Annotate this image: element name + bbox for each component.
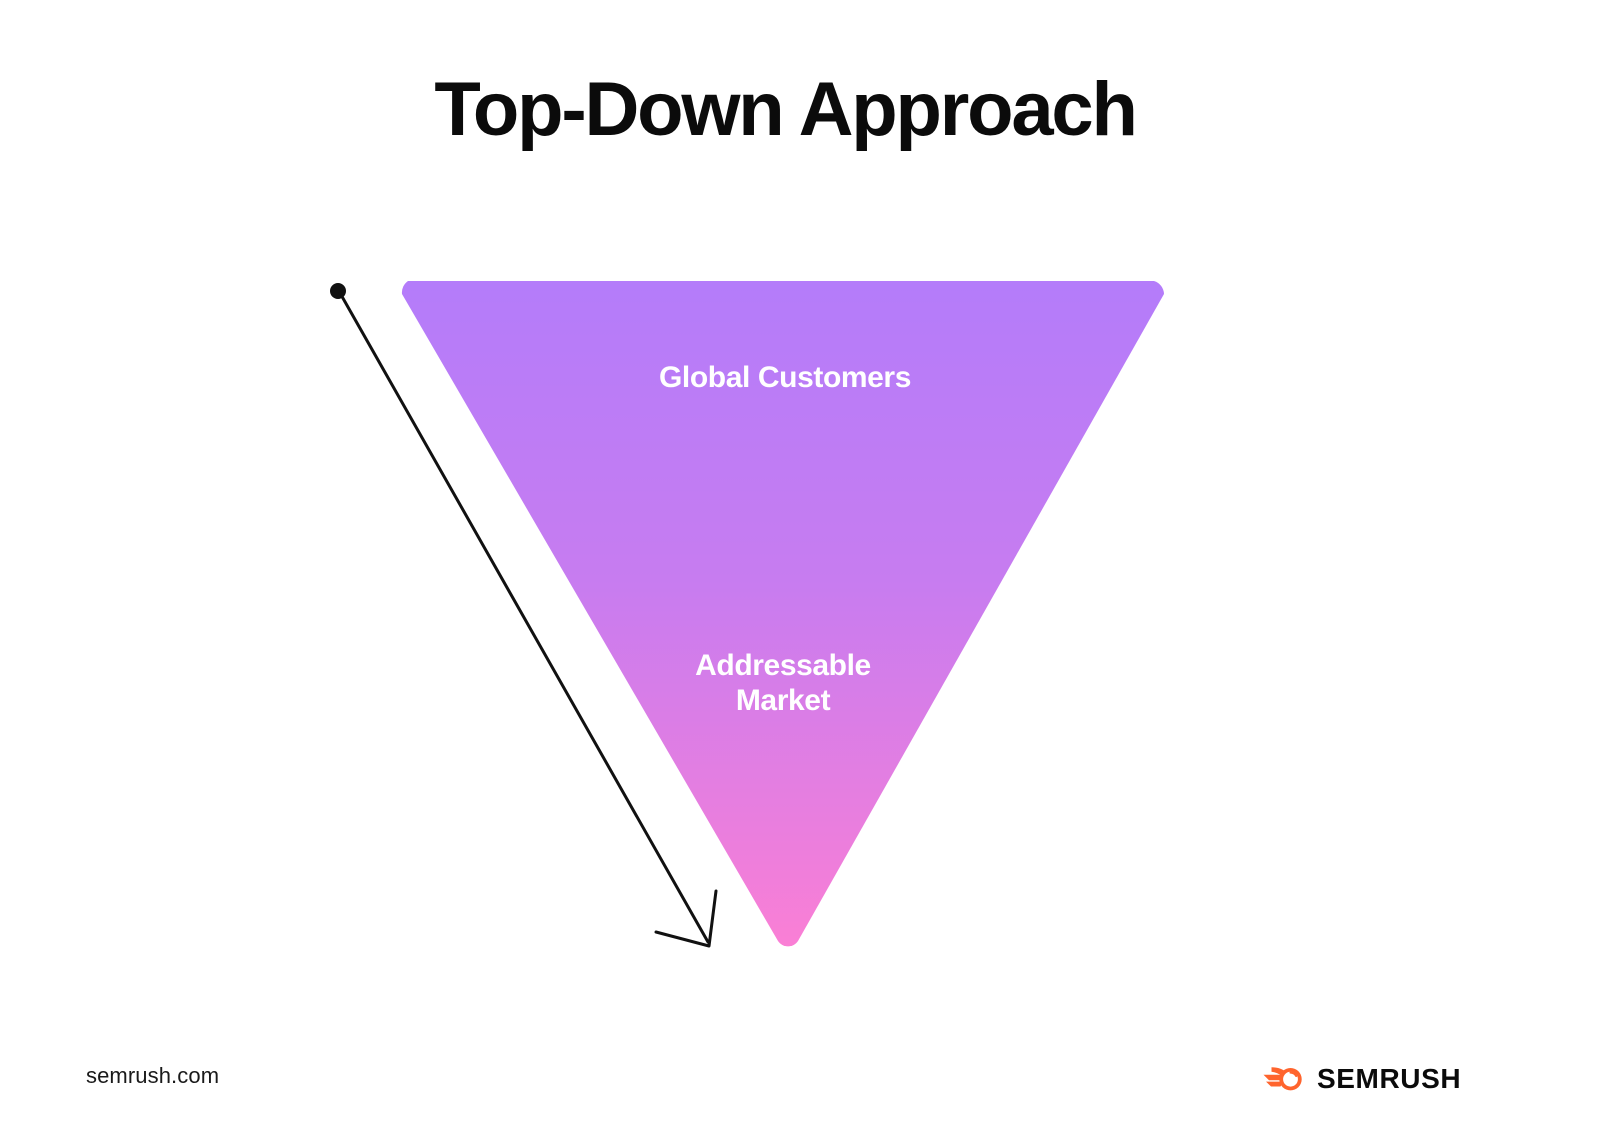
- semrush-wordmark: SEMRUSH: [1317, 1065, 1461, 1093]
- infographic-canvas: Top-Down Approach Global Customers Addre…: [0, 0, 1600, 1144]
- arrow-shaft: [340, 293, 708, 942]
- footer-site-url[interactable]: semrush.com: [86, 1063, 219, 1089]
- direction-arrow: [320, 270, 740, 970]
- semrush-comet-icon: [1262, 1062, 1306, 1096]
- page-title: Top-Down Approach: [0, 72, 1570, 148]
- arrow-svg: [320, 270, 740, 970]
- semrush-logo: SEMRUSH: [1262, 1062, 1461, 1096]
